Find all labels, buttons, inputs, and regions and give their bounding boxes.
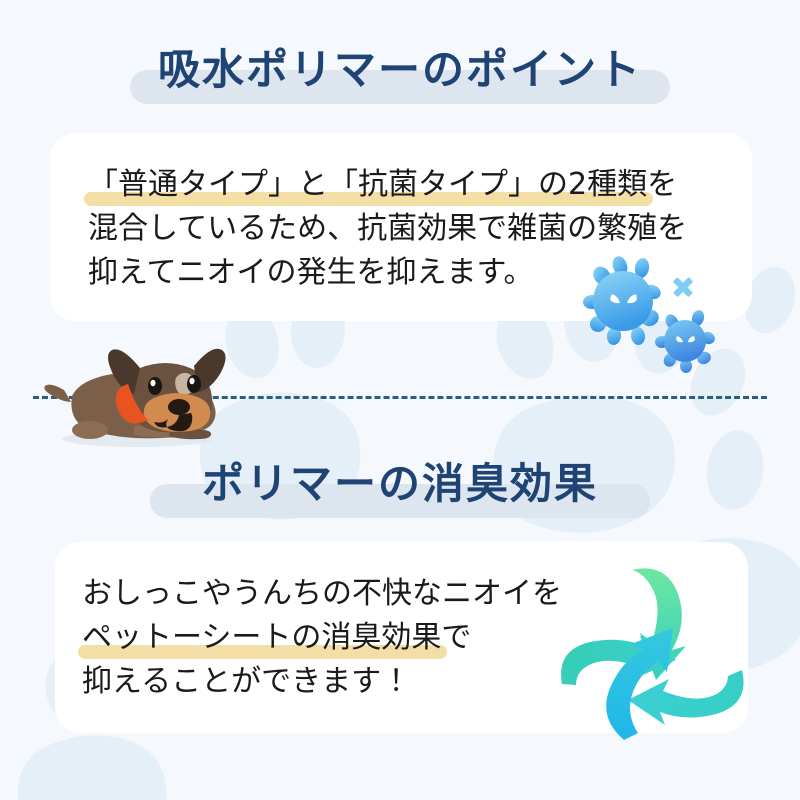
body-line-text: 抑えることができます！ [82, 664, 411, 699]
body-line: 混合しているため、抗菌効果で雑菌の繁殖を [88, 207, 687, 251]
section-heading-2-text: ポリマーの消臭効果 [192, 458, 608, 510]
body-line: おしっこやうんちの不快なニオイを [82, 572, 562, 616]
converging-arrows [560, 552, 746, 744]
body-line-text: 混合しているため、抗菌効果で雑菌の繁殖を [88, 211, 687, 246]
body-line-text: を [647, 167, 677, 202]
section-body-2: おしっこやうんちの不快なニオイを ペットーシートの消臭効果で 抑えることができま… [82, 572, 562, 704]
germ-large [583, 256, 663, 346]
body-line: ペットーシートの消臭効果で [82, 616, 562, 660]
highlighted-phrase: ペットーシートの消臭効果 [82, 616, 441, 660]
section-heading-1-text: 吸水ポリマーのポイント [148, 44, 652, 96]
germ-small [655, 309, 717, 373]
arrow-left [628, 670, 744, 725]
body-line-text: 抑えてニオイの発生を抑えます。 [88, 255, 534, 290]
body-line-text: おしっこやうんちの不快なニオイを [82, 576, 562, 611]
body-line-text: で [441, 620, 471, 655]
germ-icons [572, 256, 736, 374]
section-heading-1: 吸水ポリマーのポイント [0, 44, 800, 96]
highlighted-phrase: 「普通タイプ」と「抗菌タイプ」の2種類 [88, 163, 647, 207]
body-line: 抑えることができます！ [82, 660, 562, 704]
cross-mark-icon [673, 277, 694, 297]
body-line: 「普通タイプ」と「抗菌タイプ」の2種類を [88, 163, 687, 207]
section-heading-2: ポリマーの消臭効果 [0, 458, 800, 510]
dog-illustration [42, 338, 232, 450]
infographic-page: 吸水ポリマーのポイント 「普通タイプ」と「抗菌タイプ」の2種類を 混合しているた… [0, 0, 800, 800]
